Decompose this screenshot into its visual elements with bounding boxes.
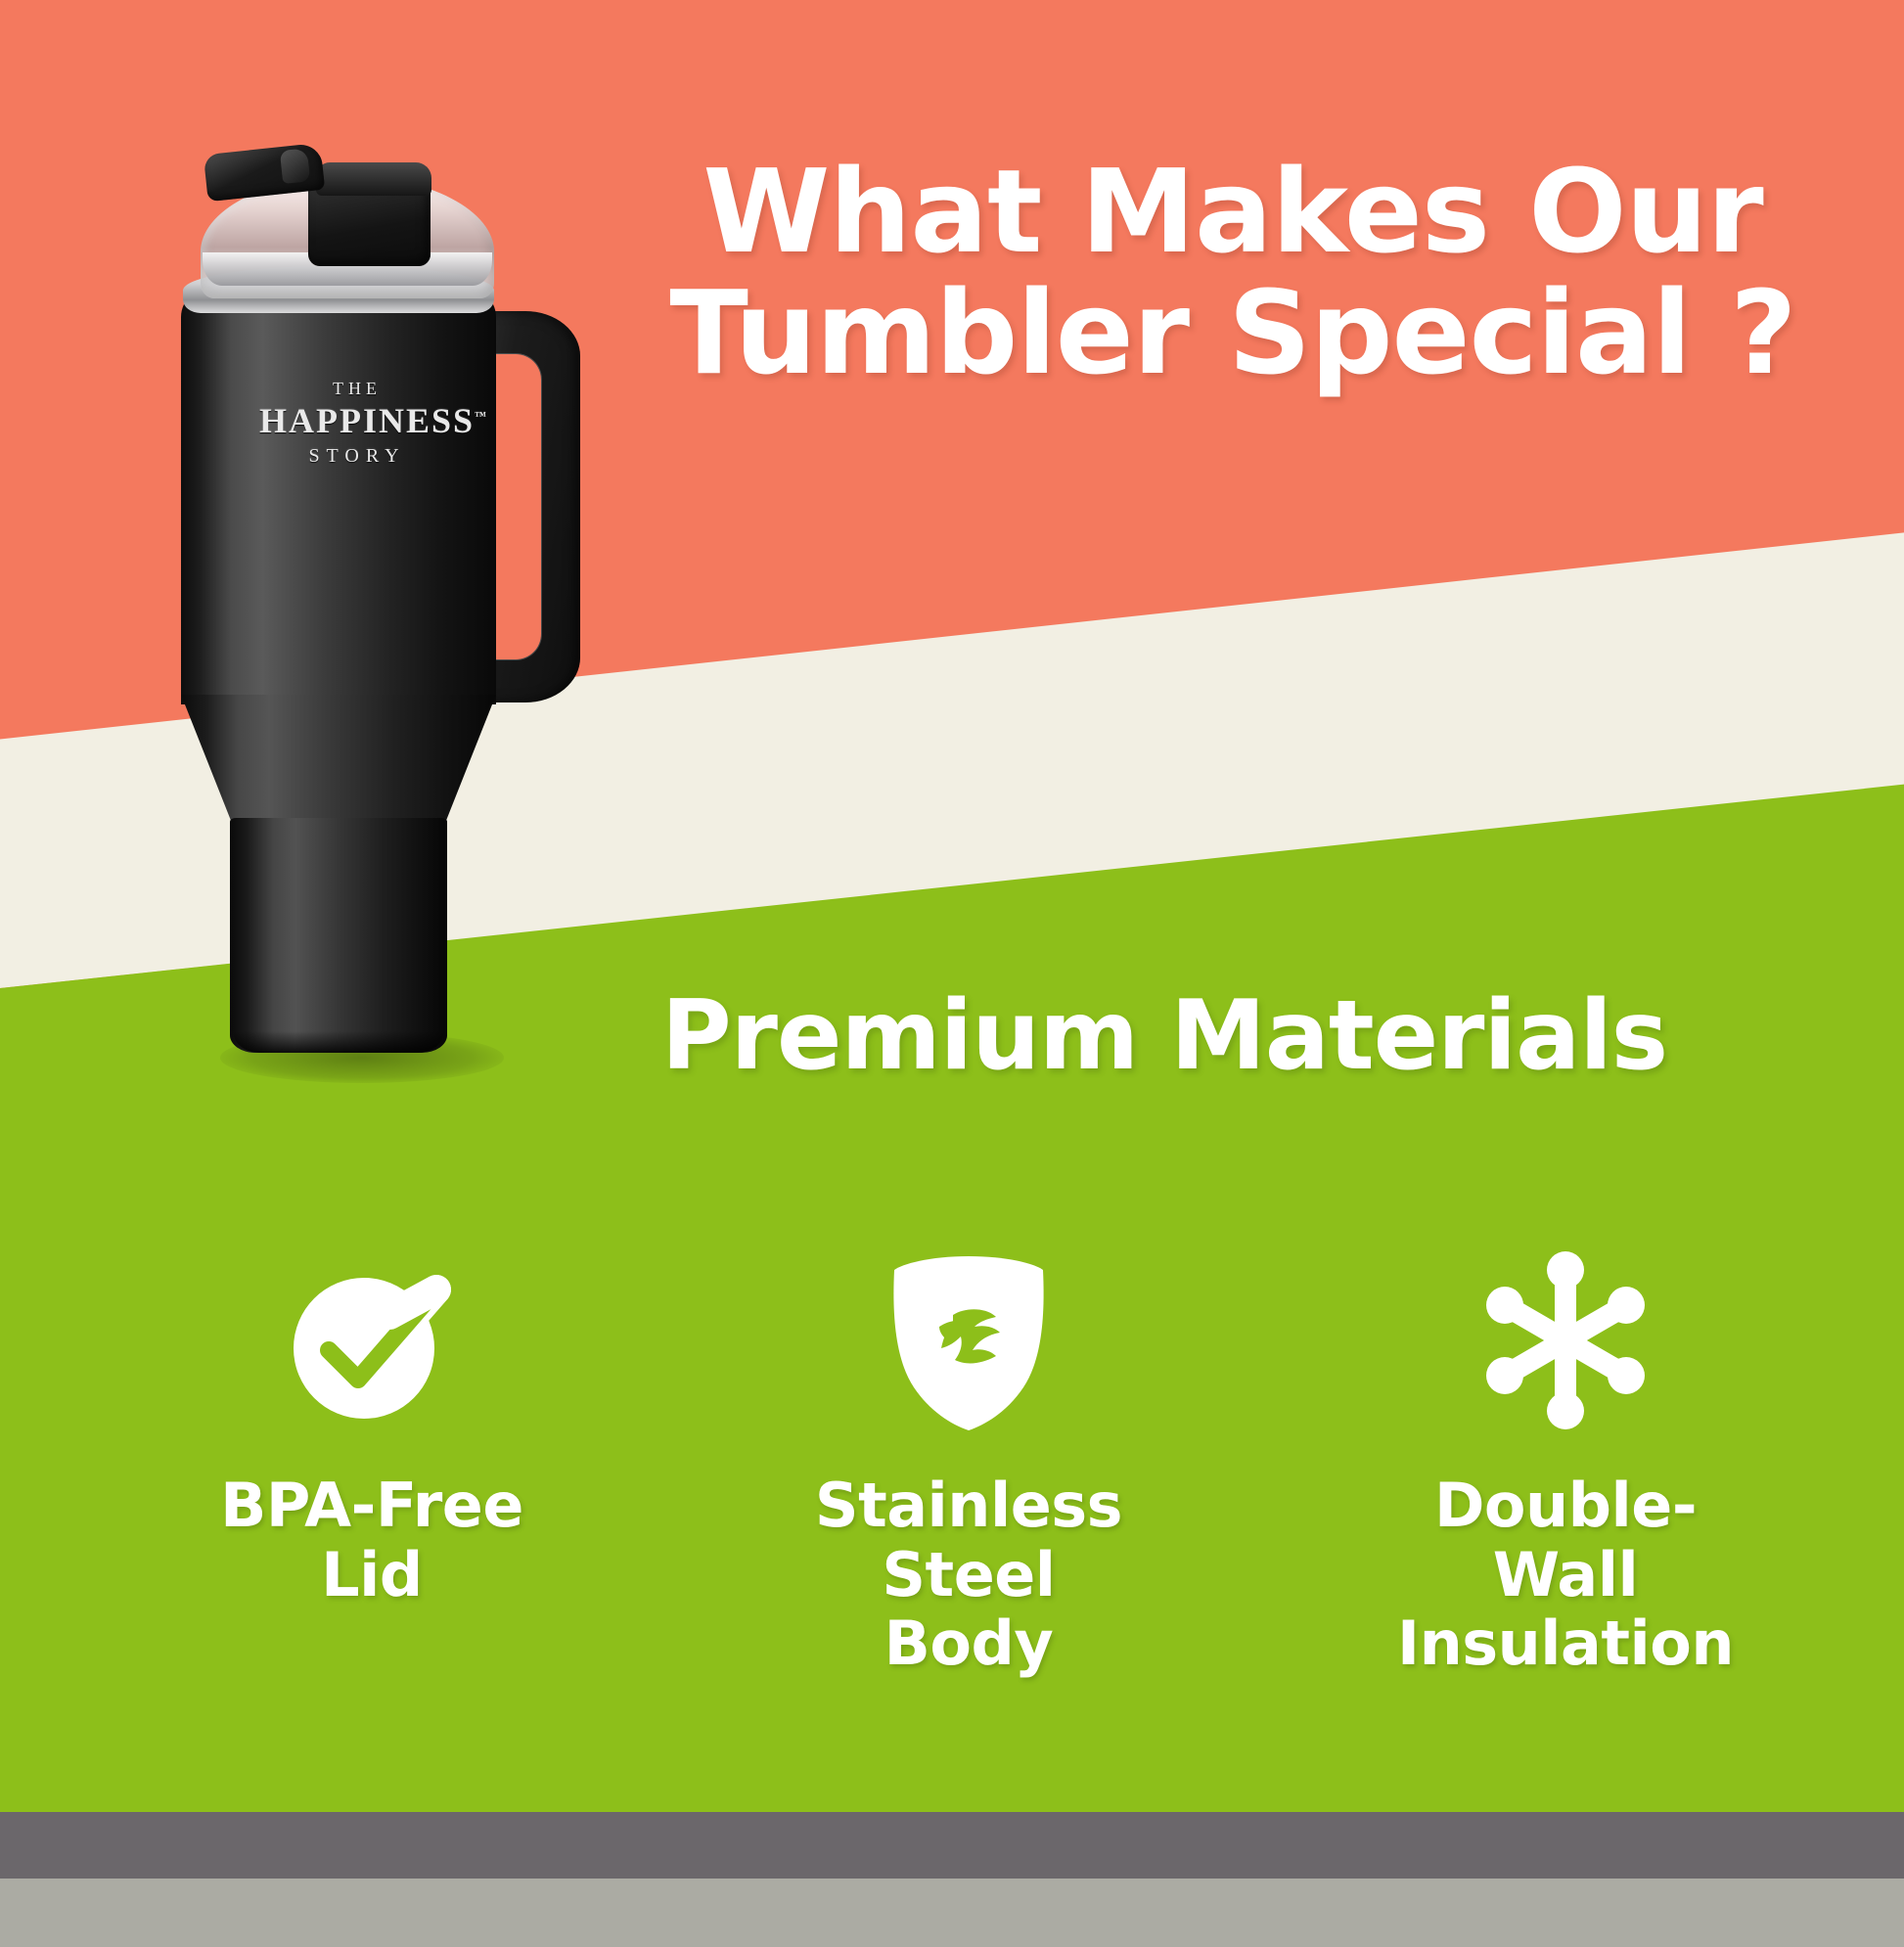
- feature-label-line: Body: [815, 1609, 1122, 1679]
- check-circle-icon: [274, 1243, 470, 1438]
- tumbler-body-taper: [181, 695, 496, 822]
- brand-logo: THE HAPPINESS™ STORY: [259, 380, 455, 466]
- feature-label-line: Insulation: [1397, 1609, 1734, 1679]
- tumbler-body-base: [230, 818, 447, 1053]
- background-band-gray-dark: [0, 1812, 1904, 1879]
- brand-logo-name: HAPPINESS™: [259, 403, 486, 438]
- product-feature-poster: THE HAPPINESS™ STORY What Makes Our Tumb…: [0, 0, 1904, 1947]
- brand-logo-the: THE: [259, 380, 455, 397]
- feature-label-line: Double-: [1397, 1472, 1734, 1541]
- feature-label-stainless-steel-body: Stainless Steel Body: [815, 1472, 1122, 1679]
- feature-label-line: Lid: [220, 1541, 523, 1610]
- headline-line-2: Tumbler Special ?: [597, 273, 1869, 394]
- shield-icon: [871, 1243, 1066, 1438]
- feature-label-double-wall-insulation: Double- Wall Insulation: [1397, 1472, 1734, 1679]
- tumbler-body-upper: [181, 284, 496, 704]
- feature-list: BPA-Free Lid Stainless Steel Body: [117, 1243, 1820, 1679]
- headline-line-1: What Makes Our: [597, 152, 1869, 273]
- feature-label-line: Steel: [815, 1541, 1122, 1610]
- feature-label-line: Stainless: [815, 1472, 1122, 1541]
- feature-item-double-wall-insulation: Double- Wall Insulation: [1311, 1243, 1820, 1679]
- feature-label-bpa-free-lid: BPA-Free Lid: [220, 1472, 523, 1609]
- section-title: Premium Materials: [489, 988, 1839, 1084]
- brand-logo-trademark: ™: [475, 409, 486, 423]
- feature-label-line: BPA-Free: [220, 1472, 523, 1541]
- feature-item-bpa-free-lid: BPA-Free Lid: [117, 1243, 626, 1609]
- feature-item-stainless-steel-body: Stainless Steel Body: [714, 1243, 1223, 1679]
- background-band-gray-light: [0, 1879, 1904, 1947]
- brand-logo-story: STORY: [259, 446, 455, 466]
- headline: What Makes Our Tumbler Special ?: [597, 152, 1869, 394]
- snowflake-icon: [1468, 1243, 1663, 1438]
- feature-label-line: Wall: [1397, 1541, 1734, 1610]
- tumbler-lid-spout-cap: [316, 162, 431, 196]
- brand-logo-name-text: HAPPINESS: [259, 401, 475, 440]
